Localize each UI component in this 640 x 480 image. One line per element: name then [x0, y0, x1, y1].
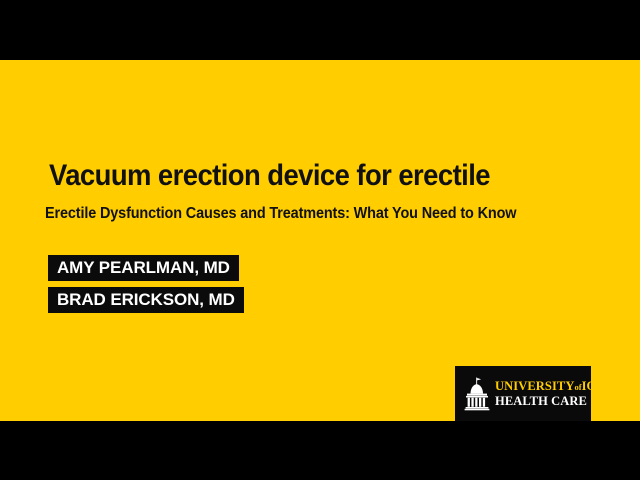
university-of-iowa-health-care-logo: UNIVERSITYofIOWA HEALTH CARE [455, 366, 591, 421]
letterbox-bar-bottom [0, 421, 640, 480]
logo-of-word: of [575, 382, 582, 392]
presenter-name-badge: BRAD ERICKSON, MD [48, 287, 244, 313]
slide-title: Vacuum erection device for erectile [49, 161, 570, 191]
video-frame: Vacuum erection device for erectile Erec… [0, 0, 640, 480]
logo-iowa-word: IOWA [582, 379, 617, 393]
logo-wordmark: UNIVERSITYofIOWA HEALTH CARE [495, 380, 617, 407]
presentation-slide: Vacuum erection device for erectile Erec… [0, 60, 640, 421]
letterbox-bar-top [0, 0, 640, 60]
presenter-list: AMY PEARLMAN, MD BRAD ERICKSON, MD [48, 255, 244, 313]
slide-subtitle: Erectile Dysfunction Causes and Treatmen… [45, 206, 593, 221]
presenter-name-badge: AMY PEARLMAN, MD [48, 255, 239, 281]
logo-line-health-care: HEALTH CARE [495, 395, 617, 408]
logo-university-word: UNIVERSITY [495, 379, 575, 393]
logo-line-university: UNIVERSITYofIOWA [495, 380, 617, 393]
old-capitol-building-icon [462, 377, 492, 411]
